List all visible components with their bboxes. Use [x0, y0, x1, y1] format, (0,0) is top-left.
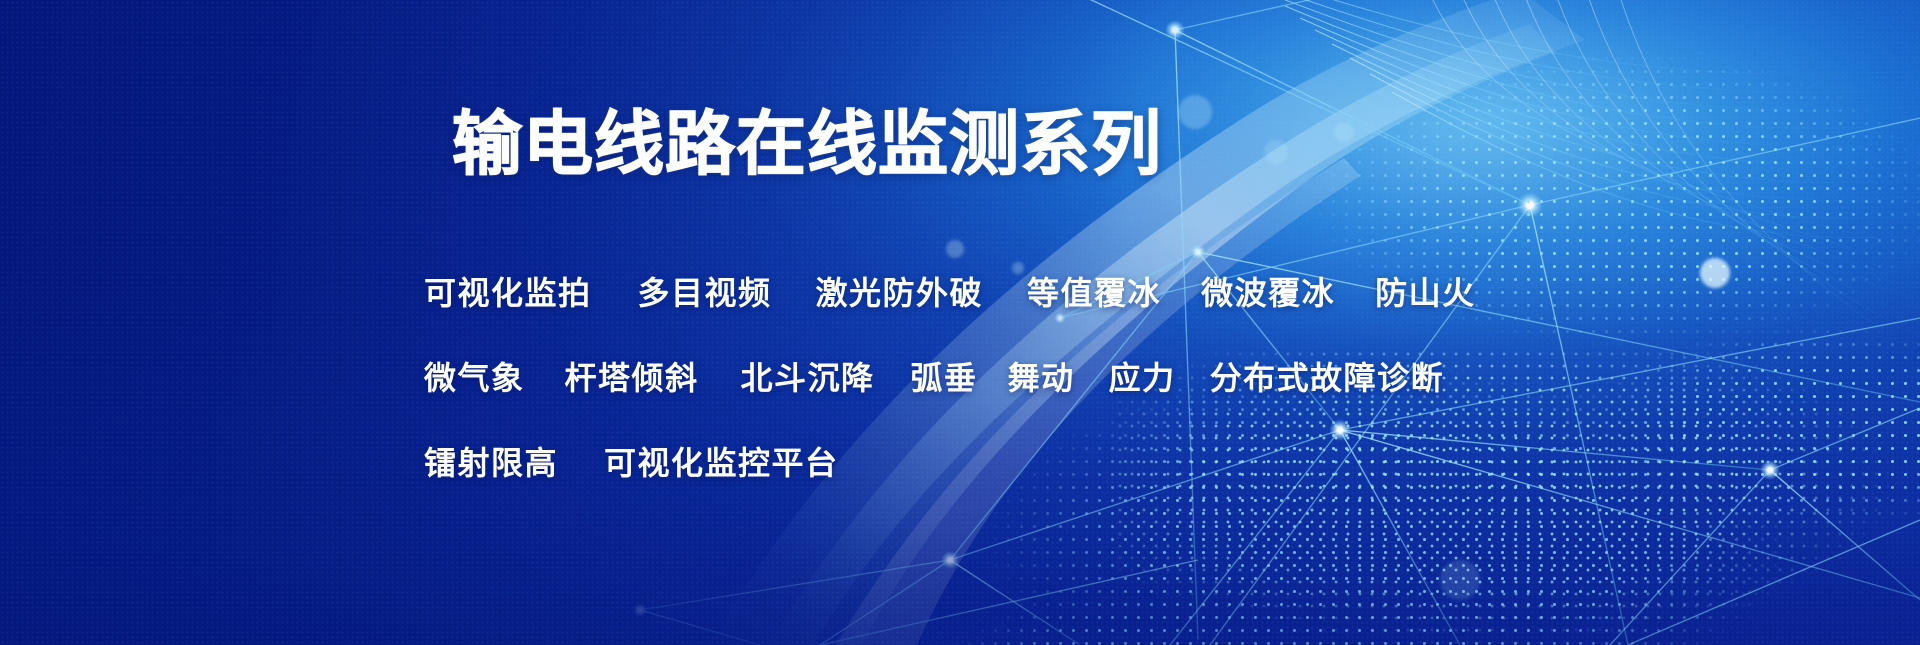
feature-item[interactable]: 北斗沉降 [741, 353, 875, 399]
feature-item[interactable]: 多目视频 [638, 268, 772, 314]
page-title: 输电线路在线监测系列 [452, 88, 1162, 189]
feature-item[interactable]: 激光防外破 [816, 268, 984, 314]
feature-list: 可视化监拍多目视频激光防外破等值覆冰微波覆冰防山火微气象杆塔倾斜北斗沉降弧垂舞动… [424, 248, 1584, 503]
feature-row: 微气象杆塔倾斜北斗沉降弧垂舞动应力分布式故障诊断 [424, 333, 1584, 418]
feature-item[interactable]: 可视化监控平台 [604, 438, 839, 484]
feature-item[interactable]: 分布式故障诊断 [1210, 353, 1445, 399]
hero-content: 输电线路在线监测系列 可视化监拍多目视频激光防外破等值覆冰微波覆冰防山火微气象杆… [0, 0, 1920, 645]
feature-row: 可视化监拍多目视频激光防外破等值覆冰微波覆冰防山火 [424, 248, 1584, 333]
feature-item[interactable]: 弧垂 [911, 353, 978, 399]
feature-item[interactable]: 微波覆冰 [1201, 268, 1335, 314]
feature-item[interactable]: 等值覆冰 [1027, 268, 1161, 314]
feature-item[interactable]: 防山火 [1375, 268, 1476, 314]
feature-row: 镭射限高可视化监控平台 [424, 418, 1584, 503]
feature-item[interactable]: 微气象 [424, 353, 525, 399]
feature-item[interactable]: 舞动 [1008, 353, 1075, 399]
feature-item[interactable]: 镭射限高 [424, 438, 558, 484]
feature-item[interactable]: 杆塔倾斜 [565, 353, 699, 399]
feature-item[interactable]: 可视化监拍 [424, 268, 592, 314]
feature-item[interactable]: 应力 [1109, 353, 1176, 399]
banner-hero: 输电线路在线监测系列 可视化监拍多目视频激光防外破等值覆冰微波覆冰防山火微气象杆… [0, 0, 1920, 645]
